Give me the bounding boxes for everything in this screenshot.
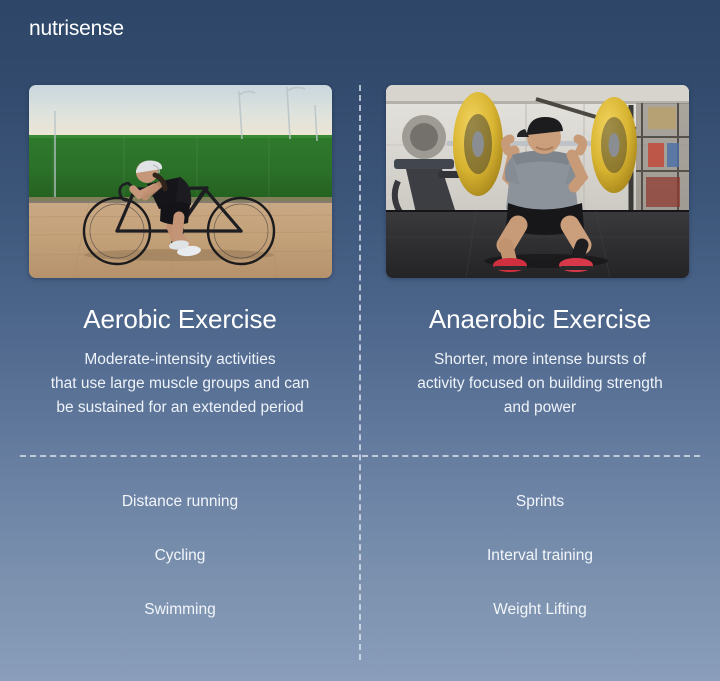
comparison-columns: Aerobic Exercise Moderate-intensity acti… xyxy=(0,0,720,681)
anaerobic-photo xyxy=(386,85,689,278)
aerobic-examples-list: Distance running Cycling Swimming xyxy=(0,487,360,649)
aerobic-description: Moderate-intensity activities that use l… xyxy=(0,348,360,420)
anaerobic-heading: Anaerobic Exercise xyxy=(360,304,720,335)
list-item: Weight Lifting xyxy=(360,595,720,649)
anaerobic-examples-list: Sprints Interval training Weight Lifting xyxy=(360,487,720,649)
aerobic-photo xyxy=(29,85,332,278)
list-item: Sprints xyxy=(360,487,720,541)
exercise-comparison-infographic: nutrisense xyxy=(0,0,720,681)
aerobic-heading: Aerobic Exercise xyxy=(0,304,360,335)
list-item: Distance running xyxy=(0,487,360,541)
column-aerobic: Aerobic Exercise Moderate-intensity acti… xyxy=(0,0,360,681)
list-item: Cycling xyxy=(0,541,360,595)
list-item: Interval training xyxy=(360,541,720,595)
list-item: Swimming xyxy=(0,595,360,649)
column-anaerobic: Anaerobic Exercise Shorter, more intense… xyxy=(360,0,720,681)
anaerobic-description: Shorter, more intense bursts of activity… xyxy=(360,348,720,420)
